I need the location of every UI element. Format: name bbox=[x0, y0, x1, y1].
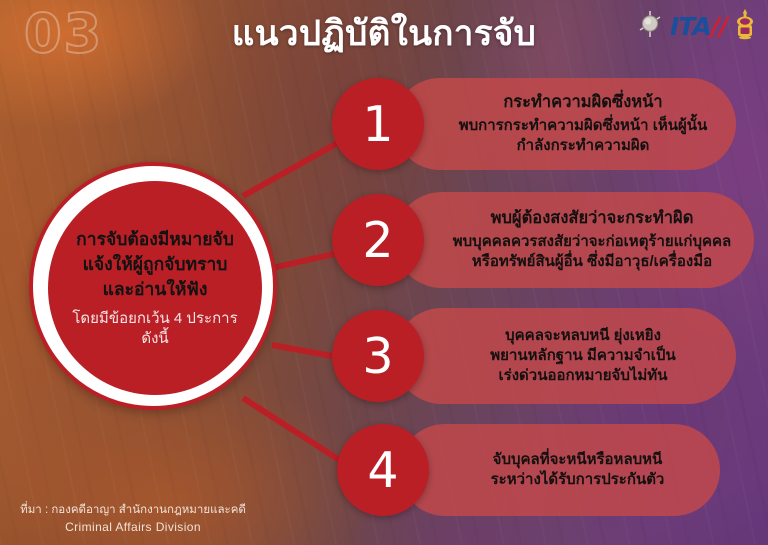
central-statement-heading: การจับต้องมีหมายจับ แจ้งให้ผู้ถูกจับทราบ… bbox=[76, 227, 234, 302]
step-item-4[interactable]: จับบุคลที่จะหนีหรือหลบหนี ระหว่างได้รับก… bbox=[337, 424, 720, 516]
central-heading-line-3: และอ่านให้ฟัง bbox=[76, 277, 234, 302]
central-sub-line-2: ดังนี้ bbox=[72, 329, 237, 349]
central-heading-line-2: แจ้งให้ผู้ถูกจับทราบ bbox=[76, 252, 234, 277]
footer-credit: ที่มา : กองคดีอาญา สำนักงานกฎหมายและคดี … bbox=[8, 502, 258, 536]
step-pill-2: พบผู้ต้องสงสัยว่าจะกระทำผิด พบบุคคลควรสง… bbox=[394, 192, 754, 288]
step-title-1: กระทำความผิดซึ่งหน้า bbox=[503, 92, 662, 113]
step-body-line-1: พบบุคคลควรสงสัยว่าจะก่อเหตุร้ายแก่บุคคล bbox=[453, 232, 731, 252]
central-statement-inner: การจับต้องมีหมายจับ แจ้งให้ผู้ถูกจับทราบ… bbox=[48, 181, 262, 395]
step-body-line-3: เร่งด่วนออกหมายจับไม่ทัน bbox=[499, 366, 668, 386]
footer-english-text: Criminal Affairs Division bbox=[8, 519, 258, 536]
step-item-1[interactable]: กระทำความผิดซึ่งหน้า พบการกระทำความผิดซึ… bbox=[332, 78, 736, 170]
step-item-2[interactable]: พบผู้ต้องสงสัยว่าจะกระทำผิด พบบุคคลควรสง… bbox=[332, 192, 754, 288]
step-body-line-2: พยานหลักฐาน มีความจำเป็น bbox=[490, 346, 675, 366]
step-badge-1: 1 bbox=[332, 78, 424, 170]
step-badge-3: 3 bbox=[332, 310, 424, 402]
step-body-line-2: ระหว่างได้รับการประกันตัว bbox=[491, 470, 665, 490]
central-heading-line-1: การจับต้องมีหมายจับ bbox=[76, 227, 234, 252]
step-pill-3: บุคคลจะหลบหนี ยุ่งเหยิง พยานหลักฐาน มีคว… bbox=[394, 308, 736, 404]
step-title-2: พบผู้ต้องสงสัยว่าจะกระทำผิด bbox=[491, 208, 694, 229]
central-statement-subtext: โดยมีข้อยกเว้น 4 ประการ ดังนี้ bbox=[72, 309, 237, 350]
step-body-line-1: พบการกระทำความผิดซึ่งหน้า เห็นผู้นั้น bbox=[459, 116, 708, 136]
central-statement-circle: การจับต้องมีหมายจับ แจ้งให้ผู้ถูกจับทราบ… bbox=[29, 162, 277, 410]
step-body-line-1: จับบุคลที่จะหนีหรือหลบหนี bbox=[493, 450, 663, 470]
step-badge-2: 2 bbox=[332, 194, 424, 286]
step-pill-4: จับบุคลที่จะหนีหรือหลบหนี ระหว่างได้รับก… bbox=[399, 424, 720, 516]
step-badge-4: 4 bbox=[337, 424, 429, 516]
step-item-3[interactable]: บุคคลจะหลบหนี ยุ่งเหยิง พยานหลักฐาน มีคว… bbox=[332, 308, 736, 404]
footer-source-text: ที่มา : กองคดีอาญา สำนักงานกฎหมายและคดี bbox=[8, 502, 258, 519]
step-body-line-2: กำลังกระทำความผิด bbox=[517, 136, 650, 156]
central-sub-line-1: โดยมีข้อยกเว้น 4 ประการ bbox=[72, 309, 237, 329]
step-body-line-2: หรือทรัพย์สินผู้อื่น ซึ่งมีอาวุธ/เครื่อง… bbox=[472, 252, 712, 272]
step-pill-1: กระทำความผิดซึ่งหน้า พบการกระทำความผิดซึ… bbox=[394, 78, 736, 170]
step-body-line-1: บุคคลจะหลบหนี ยุ่งเหยิง bbox=[505, 326, 661, 346]
infographic-canvas: 03 แนวปฏิบัติในการจับ ITA// bbox=[0, 0, 768, 545]
